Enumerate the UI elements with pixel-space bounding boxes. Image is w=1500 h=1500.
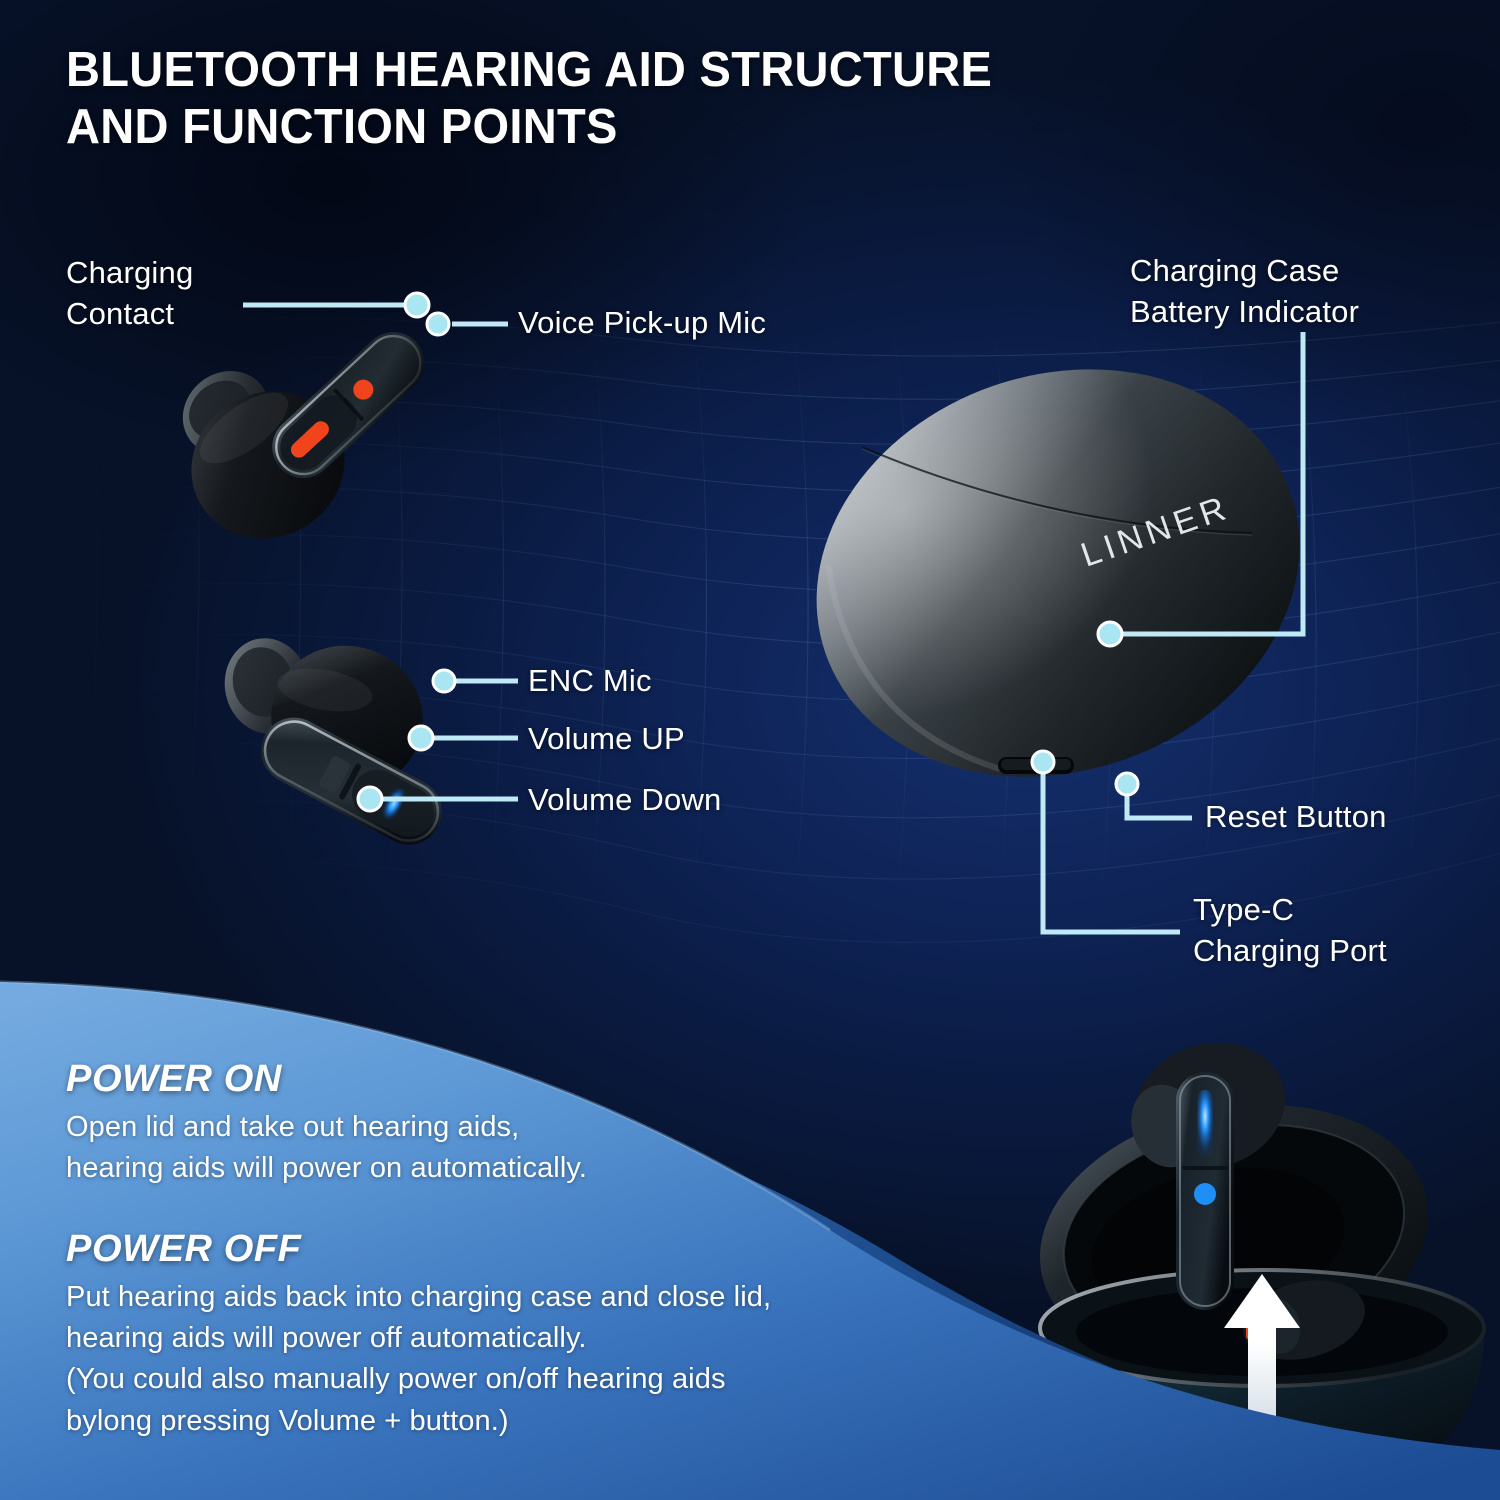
power-on-body: Open lid and take out hearing aids, hear… xyxy=(66,1107,826,1189)
power-off-body: Put hearing aids back into charging case… xyxy=(66,1277,966,1442)
power-off-block: POWER OFF Put hearing aids back into cha… xyxy=(66,1228,966,1442)
page-title-line2: AND FUNCTION POINTS xyxy=(66,100,618,154)
callout-label-battery-indicator: Charging Case Battery Indicator xyxy=(1130,251,1359,333)
callout-label-charging-contact: Charging Contact xyxy=(66,253,193,335)
earbud-top-left-image xyxy=(148,300,478,600)
charging-case-closed-image: LINNER xyxy=(800,355,1330,805)
power-on-block: POWER ON Open lid and take out hearing a… xyxy=(66,1058,826,1189)
power-off-heading: POWER OFF xyxy=(66,1228,966,1271)
page-title-line1: BLUETOOTH HEARING AID STRUCTURE xyxy=(66,43,992,97)
callout-label-volume-up: Volume UP xyxy=(528,719,685,760)
earbud-middle-left-image xyxy=(205,608,525,938)
infographic-canvas: BLUETOOTH HEARING AID STRUCTUREAND FUNCT… xyxy=(0,0,1500,1500)
power-on-heading: POWER ON xyxy=(66,1058,826,1101)
callout-label-volume-down: Volume Down xyxy=(528,780,721,821)
callout-label-voice-pickup-mic: Voice Pick-up Mic xyxy=(518,303,766,344)
callout-label-enc-mic: ENC Mic xyxy=(528,661,652,702)
callout-label-reset-button: Reset Button xyxy=(1205,797,1387,838)
page-title: BLUETOOTH HEARING AID STRUCTUREAND FUNCT… xyxy=(66,42,1199,156)
